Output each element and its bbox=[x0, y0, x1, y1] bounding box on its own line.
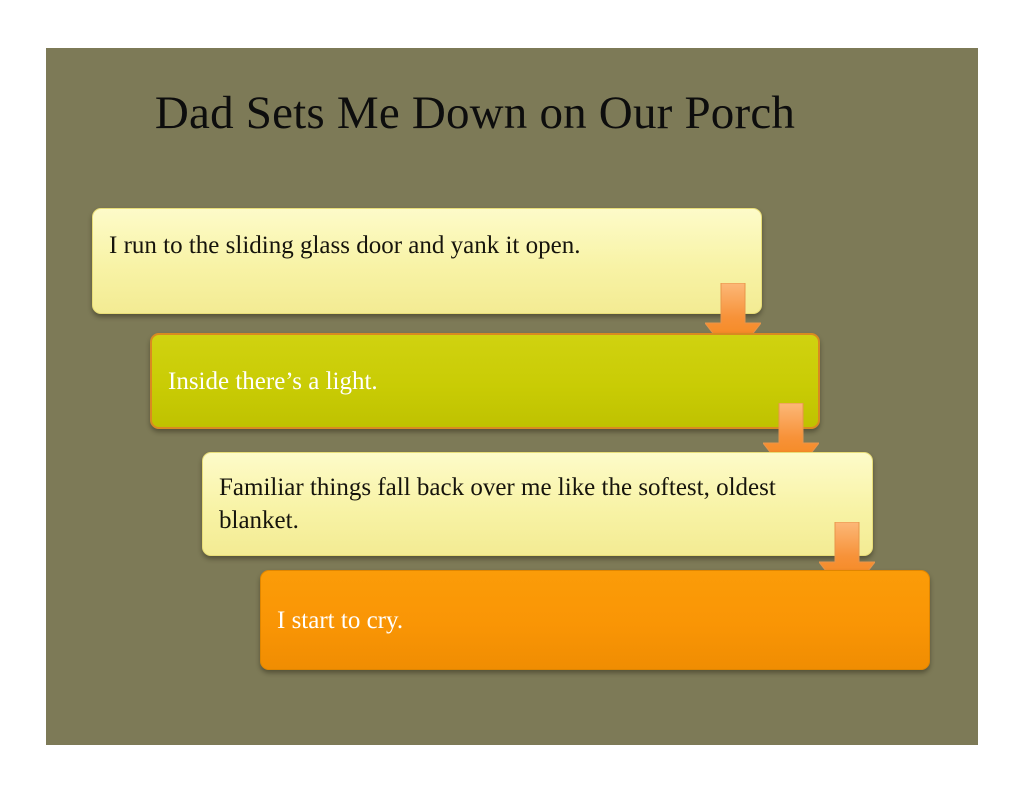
flow-step-1[interactable]: I run to the sliding glass door and yank… bbox=[92, 208, 762, 314]
flow-step-3-label: Familiar things fall back over me like t… bbox=[203, 471, 872, 537]
flow-step-4-label: I start to cry. bbox=[261, 604, 929, 637]
flow-step-3[interactable]: Familiar things fall back over me like t… bbox=[202, 452, 873, 556]
flow-step-4[interactable]: I start to cry. bbox=[260, 570, 930, 670]
flow-step-1-label: I run to the sliding glass door and yank… bbox=[93, 229, 761, 262]
flow-step-2-label: Inside there’s a light. bbox=[152, 365, 818, 398]
page-title: Dad Sets Me Down on Our Porch bbox=[80, 89, 870, 138]
slide-canvas: Dad Sets Me Down on Our Porch I run to t… bbox=[0, 0, 1024, 791]
flow-step-2[interactable]: Inside there’s a light. bbox=[150, 333, 820, 429]
